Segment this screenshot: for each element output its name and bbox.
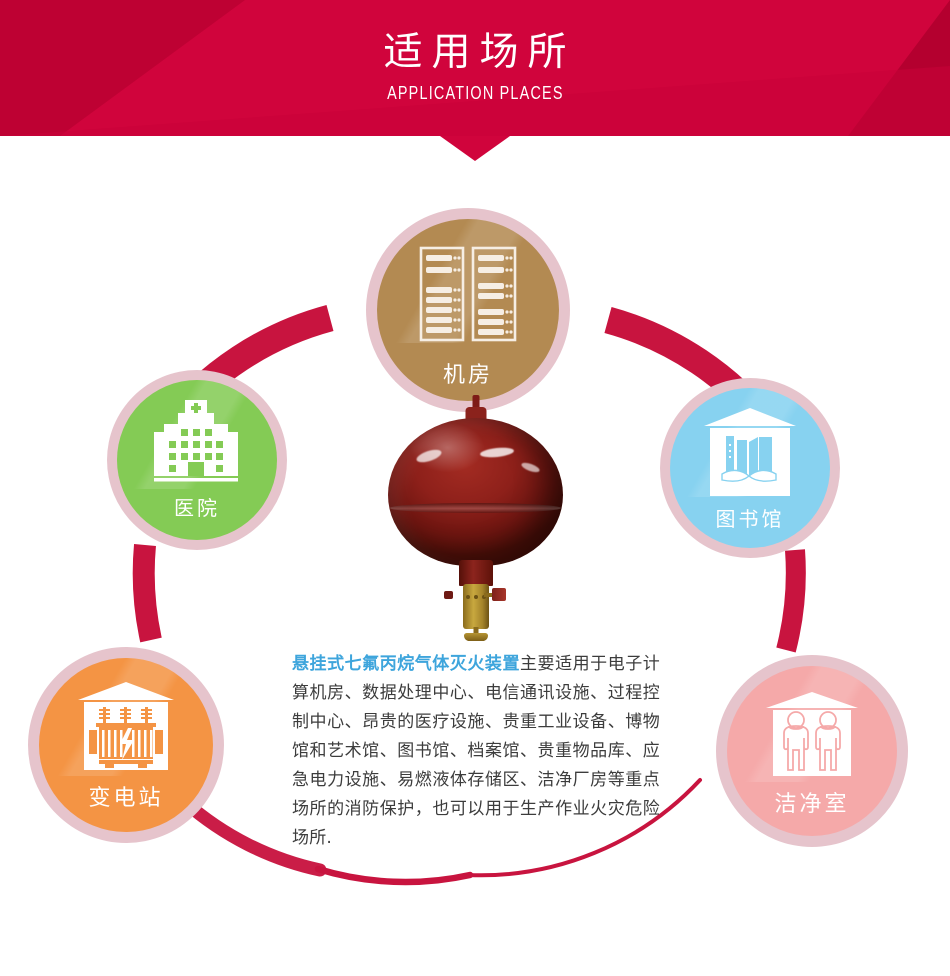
node-biandianzhan[interactable]: 变电站 bbox=[28, 647, 224, 843]
valve-side-nub bbox=[444, 591, 453, 599]
node-label: 医院 bbox=[174, 492, 220, 521]
product-name-highlight: 悬挂式七氟丙烷气体灭火装置 bbox=[292, 654, 520, 674]
node-jiejingshi[interactable]: 洁净室 bbox=[716, 655, 908, 847]
node-disc: 变电站 bbox=[39, 658, 213, 832]
highlight-center bbox=[480, 446, 515, 459]
node-disc: 医院 bbox=[117, 380, 277, 540]
highlight-left bbox=[415, 447, 443, 465]
page-subtitle: APPLICATION PLACES bbox=[387, 83, 564, 104]
spray-nozzle bbox=[464, 633, 488, 641]
brass-valve bbox=[463, 584, 489, 629]
books-library-icon bbox=[700, 406, 800, 498]
page-title: 适用场所 bbox=[374, 32, 575, 75]
application-places-infographic: 适用场所 APPLICATION PLACES bbox=[0, 0, 950, 976]
node-label: 机房 bbox=[443, 357, 493, 389]
node-yiyuan[interactable]: 医院 bbox=[107, 370, 287, 550]
description-rest: 主要适用于电子计算机房、数据处理中心、电信通讯设施、过程控制中心、昂贵的医疗设施… bbox=[292, 654, 660, 848]
cylinder-body bbox=[388, 418, 563, 566]
cylinder-seam bbox=[390, 503, 561, 513]
node-label: 洁净室 bbox=[774, 786, 849, 818]
valve-knob bbox=[492, 588, 506, 601]
transformer-icon bbox=[74, 680, 178, 774]
highlight-right bbox=[520, 461, 540, 474]
header-banner: 适用场所 APPLICATION PLACES bbox=[0, 0, 950, 136]
node-label: 图书馆 bbox=[716, 503, 785, 532]
node-label: 变电站 bbox=[88, 780, 163, 812]
server-rack-icon bbox=[416, 245, 520, 349]
node-jifang[interactable]: 机房 bbox=[366, 208, 570, 412]
banner-notch-arrow bbox=[440, 136, 510, 161]
node-disc: 洁净室 bbox=[727, 666, 897, 836]
valve-ports bbox=[466, 595, 486, 600]
node-disc: 机房 bbox=[377, 219, 559, 401]
cleanroom-workers-icon bbox=[762, 690, 862, 780]
valve-neck bbox=[459, 560, 493, 586]
hospital-building-icon bbox=[148, 400, 246, 486]
product-image-extinguisher bbox=[388, 395, 563, 645]
node-tushuguan[interactable]: 图书馆 bbox=[660, 378, 840, 558]
node-disc: 图书馆 bbox=[670, 388, 830, 548]
description-paragraph: 悬挂式七氟丙烷气体灭火装置主要适用于电子计算机房、数据处理中心、电信通讯设施、过… bbox=[292, 650, 660, 853]
